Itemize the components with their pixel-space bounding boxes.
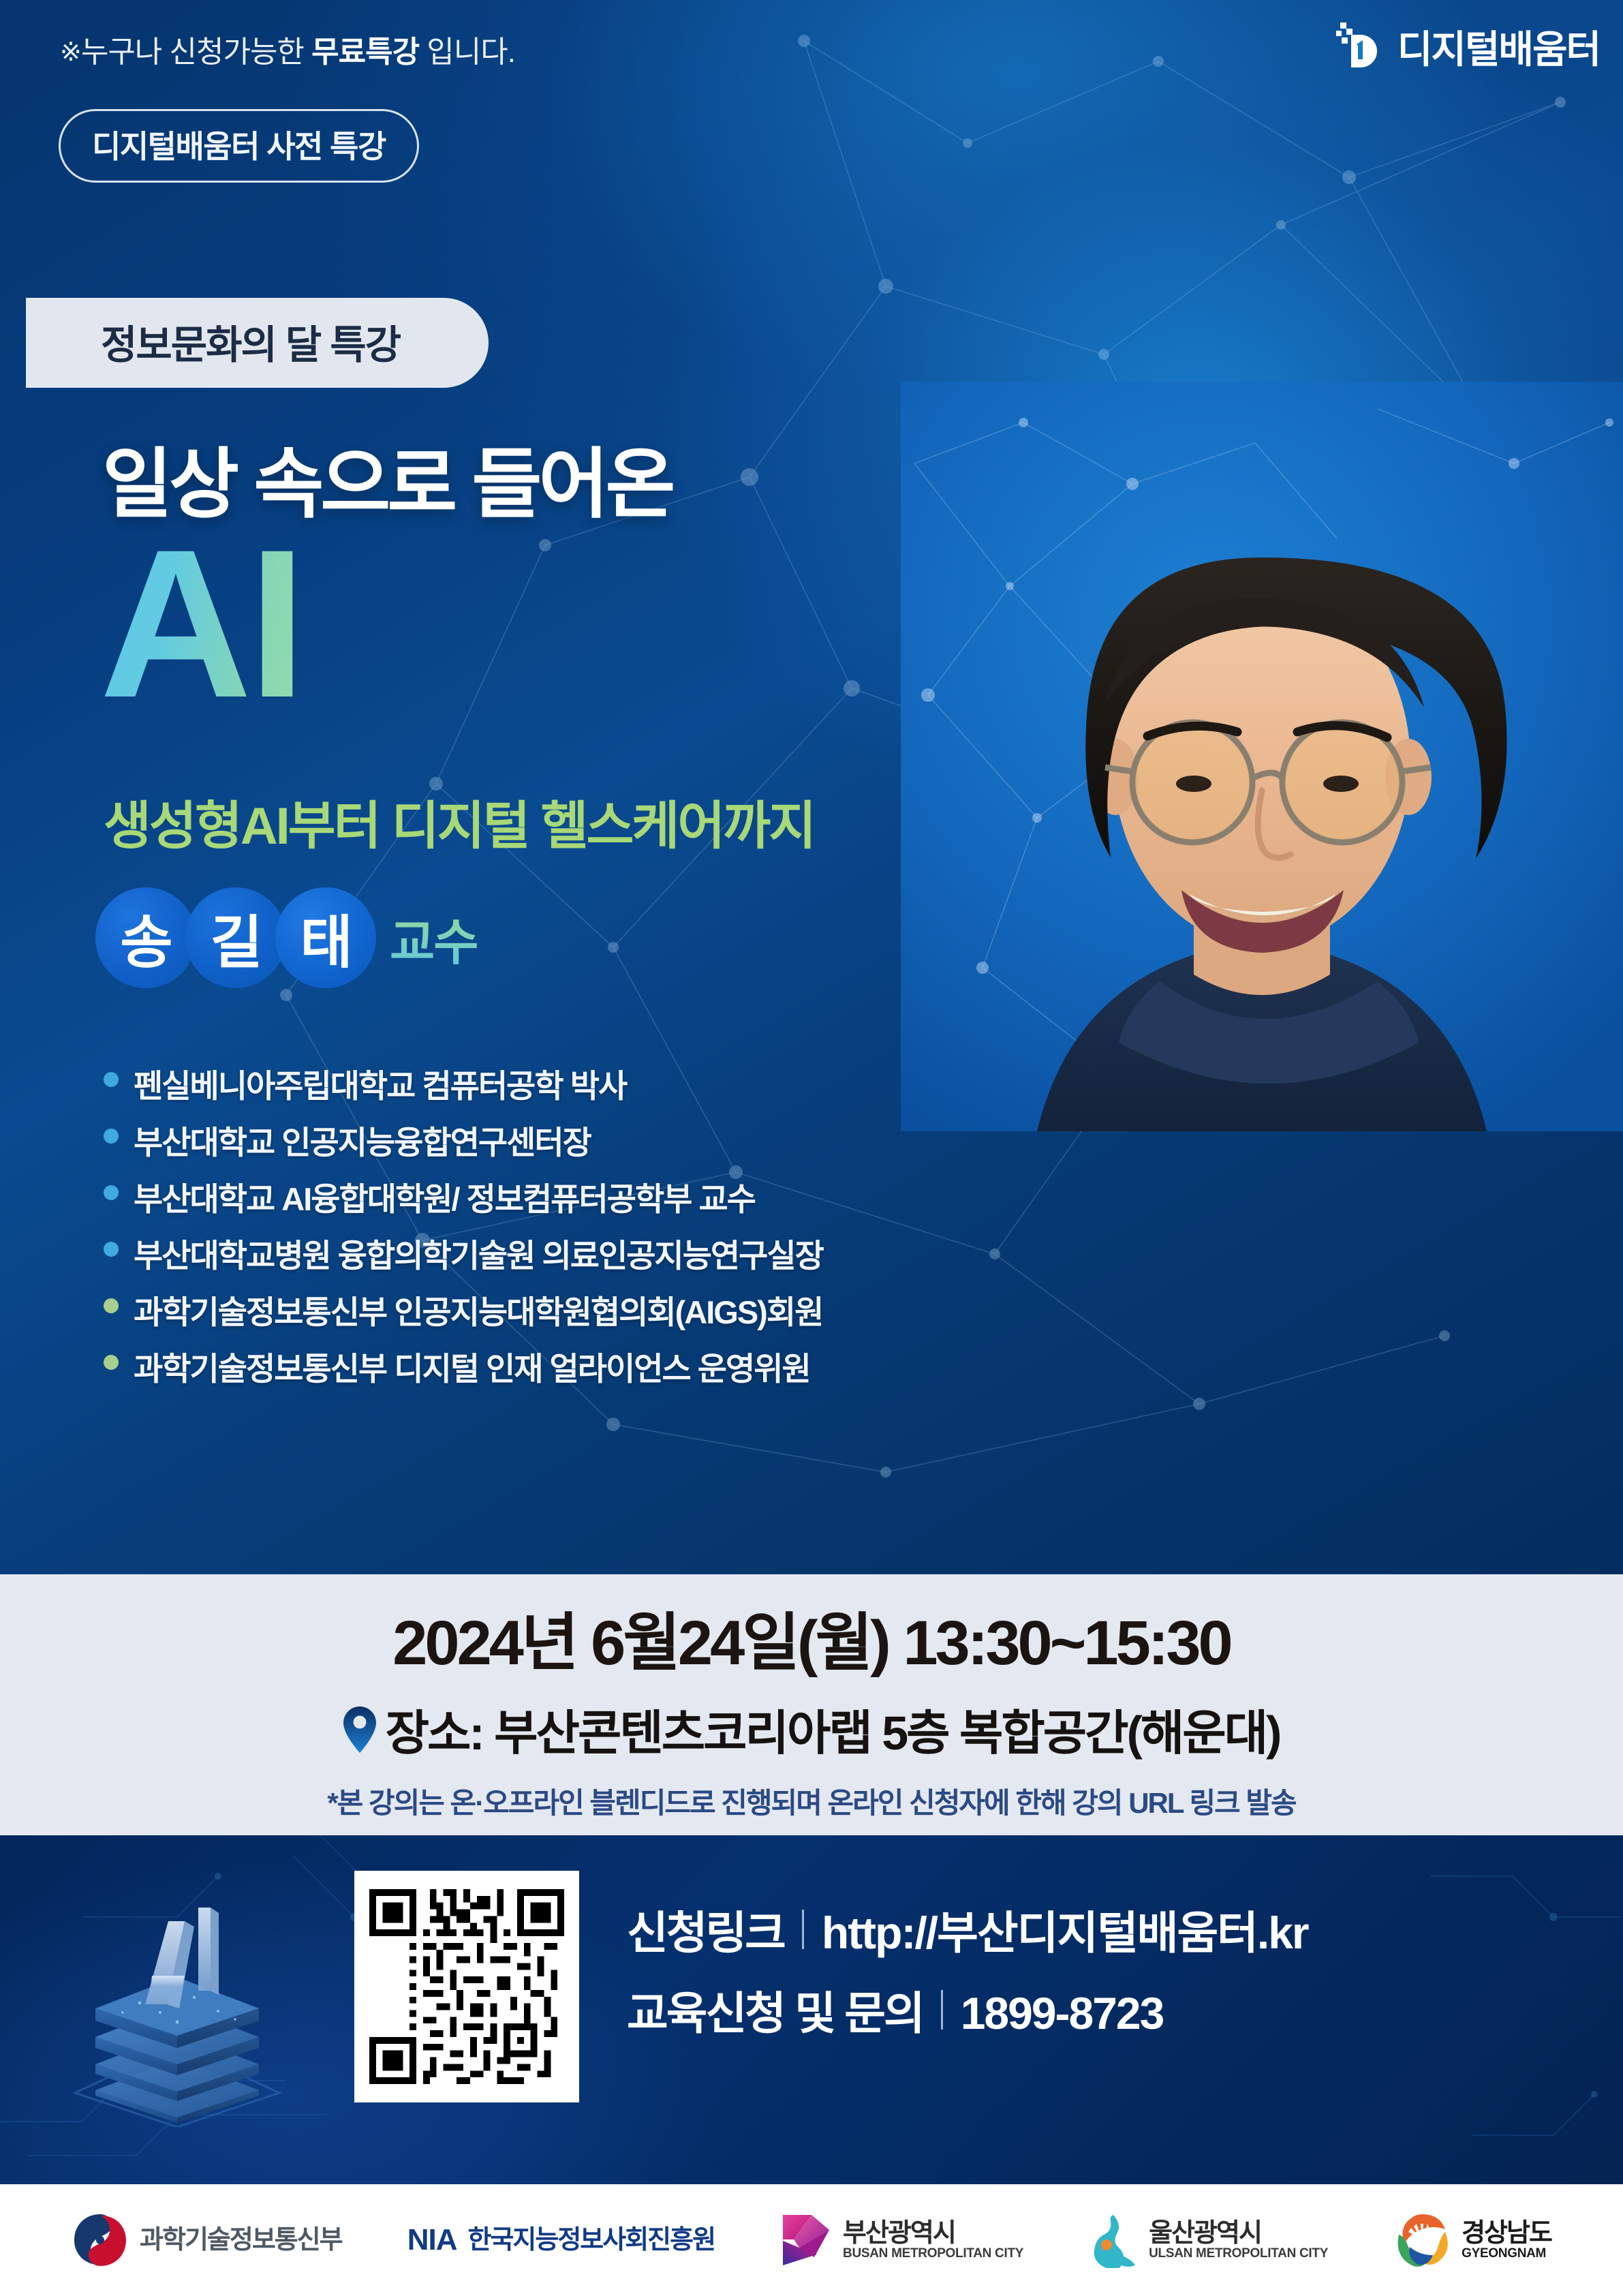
- list-item: 과학기술정보통신부 디지털 인재 얼라이언스 운영위원: [104, 1343, 823, 1390]
- sponsor-footer: 과학기술정보통신부 NIA 한국지능정보사회진흥원: [0, 2184, 1623, 2296]
- footer-logo-gyeongnam: 경상남도 GYEONGNAM: [1393, 2211, 1551, 2269]
- brand-logo: 디지털배움터: [1336, 19, 1600, 74]
- event-venue-row: 장소: 부산콘텐츠코리아랩 5층 복합공간(해운대): [343, 1695, 1280, 1764]
- credentials-list: 펜실베니아주립대학교 컴퓨터공학 박사 부산대학교 인공지능융합연구센터장 부산…: [104, 1060, 823, 1399]
- free-note-after: 입니다.: [419, 35, 515, 69]
- bullet-dot-icon: [104, 1298, 119, 1313]
- contact-block: 신청링크 http://부산디지털배움터.kr 교육신청 및 문의 1899-8…: [627, 1897, 1308, 2057]
- credential-text: 부산대학교 AI융합대학원/ 정보컴퓨터공학부 교수: [134, 1173, 755, 1220]
- free-lecture-note: ※누구나 신청가능한 무료특강 입니다.: [60, 27, 515, 71]
- footer-logo-name: 울산광역시: [1149, 2220, 1328, 2247]
- inquiry-label: 교육신청 및 문의: [627, 1977, 923, 2042]
- footer-logo-label: 부산광역시 BUSAN METROPOLITAN CITY: [843, 2220, 1023, 2260]
- inquiry-row: 교육신청 및 문의 1899-8723: [627, 1977, 1308, 2042]
- footer-logo-label: 한국지능정보사회진흥원: [467, 2227, 715, 2254]
- bullet-dot-icon: [104, 1242, 119, 1257]
- credential-text: 과학기술정보통신부 디지털 인재 얼라이언스 운영위원: [134, 1343, 810, 1390]
- list-item: 부산대학교 AI융합대학원/ 정보컴퓨터공학부 교수: [104, 1173, 823, 1220]
- nia-wordmark: NIA: [407, 2223, 457, 2257]
- inquiry-phone[interactable]: 1899-8723: [961, 1987, 1164, 2039]
- footer-logo-label: 경상남도 GYEONGNAM: [1462, 2220, 1551, 2260]
- footer-logo-eng: GYEONGNAM: [1462, 2247, 1551, 2260]
- event-date: 2024년 6월24일(월) 13:30~15:30: [392, 1592, 1230, 1683]
- registration-section: 신청링크 http://부산디지털배움터.kr 교육신청 및 문의 1899-8…: [0, 1835, 1623, 2184]
- speaker-name-char-1: 송: [95, 887, 196, 988]
- bullet-dot-icon: [104, 1185, 119, 1200]
- speaker-photo: [901, 382, 1623, 1131]
- footer-logo-nia: NIA 한국지능정보사회진흥원: [407, 2223, 715, 2257]
- speaker-name-char-3: 태: [275, 887, 376, 988]
- map-pin-icon: [343, 1706, 376, 1753]
- footer-logo-name: 부산광역시: [843, 2220, 1023, 2247]
- taegeuk-icon: [72, 2211, 129, 2269]
- pre-lecture-pill: 디지털배움터 사전 특강: [59, 109, 419, 183]
- list-item: 펜실베니아주립대학교 컴퓨터공학 박사: [104, 1060, 823, 1107]
- speaker-name-char-2: 길: [185, 887, 286, 988]
- month-special-badge: 정보문화의 달 특강: [26, 298, 489, 388]
- event-info-band: 2024년 6월24일(월) 13:30~15:30 장소: 부산콘텐츠코리아랩…: [0, 1574, 1623, 1835]
- bullet-dot-icon: [104, 1129, 119, 1144]
- speaker-block: 송 길 태 교수: [95, 887, 477, 988]
- bullet-dot-icon: [104, 1072, 119, 1087]
- credential-text: 펜실베니아주립대학교 컴퓨터공학 박사: [134, 1060, 626, 1107]
- footer-logo-eng: ULSAN METROPOLITAN CITY: [1149, 2247, 1328, 2260]
- title-ai: AI: [99, 518, 303, 729]
- subtitle: 생성형AI부터 디지털 헬스케어까지: [104, 784, 814, 859]
- registration-link-row: 신청링크 http://부산디지털배움터.kr: [627, 1897, 1308, 1962]
- list-item: 부산대학교병원 융합의학기술원 의료인공지능연구실장: [104, 1229, 823, 1276]
- footer-logo-name: 경상남도: [1462, 2220, 1551, 2247]
- footer-logo-eng: BUSAN METROPOLITAN CITY: [843, 2247, 1023, 2260]
- footer-logo-ulsan: 울산광역시 ULSAN METROPOLITAN CITY: [1089, 2212, 1328, 2268]
- credential-text: 부산대학교 인공지능융합연구센터장: [134, 1116, 591, 1163]
- speaker-title: 교수: [390, 902, 477, 974]
- busan-icon: [780, 2212, 832, 2268]
- list-item: 과학기술정보통신부 인공지능대학원협의회(AIGS)회원: [104, 1286, 823, 1333]
- registration-link-label: 신청링크: [627, 1897, 784, 1962]
- footer-logo-label: 울산광역시 ULSAN METROPOLITAN CITY: [1149, 2220, 1328, 2260]
- hero-section: ※누구나 신청가능한 무료특강 입니다. 디지털배움터 디지털배움터 사전 특강: [0, 0, 1623, 1574]
- ulsan-icon: [1089, 2212, 1138, 2268]
- bullet-dot-icon: [104, 1355, 119, 1370]
- qr-code-icon: [369, 1886, 564, 2087]
- divider: [941, 1990, 943, 2030]
- registration-qr-code[interactable]: [354, 1871, 579, 2102]
- registration-link-value[interactable]: http://부산디지털배움터.kr: [822, 1897, 1308, 1962]
- asterisk-icon: ※: [60, 38, 81, 67]
- credential-text: 과학기술정보통신부 인공지능대학원협의회(AIGS)회원: [134, 1286, 822, 1333]
- divider: [802, 1910, 804, 1949]
- list-item: 부산대학교 인공지능융합연구센터장: [104, 1116, 823, 1163]
- event-venue: 장소: 부산콘텐츠코리아랩 5층 복합공간(해운대): [386, 1695, 1280, 1764]
- footer-logo-name: 과학기술정보통신부: [140, 2227, 342, 2254]
- digital-baeumteo-mark-icon: [1336, 21, 1385, 73]
- gyeongnam-icon: [1393, 2211, 1451, 2269]
- speaker-name: 송 길 태: [95, 887, 365, 988]
- event-note: *본 강의는 온·오프라인 블렌디드로 진행되며 온라인 신청자에 한해 강의 …: [327, 1780, 1295, 1822]
- free-note-bold: 무료특강: [311, 35, 419, 69]
- poster-root: ※누구나 신청가능한 무료특강 입니다. 디지털배움터 디지털배움터 사전 특강: [0, 0, 1623, 2296]
- credential-text: 부산대학교병원 융합의학기술원 의료인공지능연구실장: [134, 1229, 823, 1276]
- footer-logo-msit: 과학기술정보통신부: [72, 2211, 342, 2269]
- brand-logo-text: 디지털배움터: [1397, 19, 1600, 74]
- ai-stack-illustration: [65, 1888, 290, 2127]
- footer-logo-name: 한국지능정보사회진흥원: [467, 2227, 715, 2254]
- footer-logo-label: 과학기술정보통신부: [140, 2227, 342, 2254]
- free-note-before: 누구나 신청가능한: [81, 35, 311, 69]
- footer-logo-busan: 부산광역시 BUSAN METROPOLITAN CITY: [780, 2212, 1023, 2268]
